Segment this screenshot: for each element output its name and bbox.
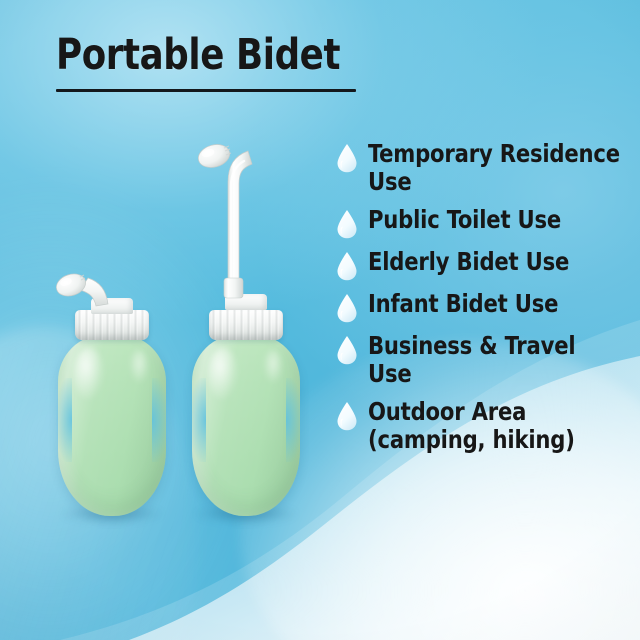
list-item: Elderly Bidet Use	[336, 248, 636, 281]
bottle-waist-shadow-left	[190, 378, 206, 462]
feature-label: Outdoor Area (camping, hiking)	[368, 398, 620, 455]
bottle-waist-shadow-left	[56, 378, 72, 462]
list-item: Infant Bidet Use	[336, 290, 636, 323]
feature-list: Temporary Residence Use Public Toile	[336, 140, 636, 464]
water-droplet-icon	[336, 293, 358, 323]
water-droplet-icon	[336, 209, 358, 239]
list-item: Temporary Residence Use	[336, 140, 636, 197]
bidet-bottle-retracted	[58, 288, 166, 516]
bottle-highlight	[74, 348, 104, 400]
spray-nozzle-retracted	[44, 266, 154, 326]
water-droplet-icon	[336, 251, 358, 281]
water-droplet-icon	[336, 401, 358, 431]
list-item: Business & Travel Use	[336, 332, 636, 389]
title-block: Portable Bidet	[56, 34, 476, 92]
bottle-highlight-secondary	[263, 350, 283, 384]
bottle-highlight	[208, 348, 238, 400]
water-droplet-icon	[336, 335, 358, 365]
title-underline-rule	[56, 89, 356, 92]
bottle-body	[58, 334, 166, 516]
feature-label: Elderly Bidet Use	[368, 248, 569, 276]
feature-label: Infant Bidet Use	[368, 290, 558, 318]
bottle-waist-shadow-right	[152, 378, 168, 462]
bottle-cap	[209, 310, 283, 340]
list-item: Public Toilet Use	[336, 206, 636, 239]
feature-label: Public Toilet Use	[368, 206, 561, 234]
bottle-highlight-secondary	[129, 350, 149, 384]
bottle-waist-shadow-right	[286, 378, 302, 462]
feature-label: Business & Travel Use	[368, 332, 620, 389]
spray-nozzle-extended	[180, 136, 300, 300]
page-title: Portable Bidet	[56, 34, 442, 78]
bottle-body	[192, 334, 300, 516]
water-droplet-icon	[336, 143, 358, 173]
list-item: Outdoor Area (camping, hiking)	[336, 398, 636, 455]
feature-label: Temporary Residence Use	[368, 140, 620, 197]
product-feature-graphic: Portable Bidet	[0, 0, 640, 640]
bidet-bottle-extended	[192, 288, 300, 516]
